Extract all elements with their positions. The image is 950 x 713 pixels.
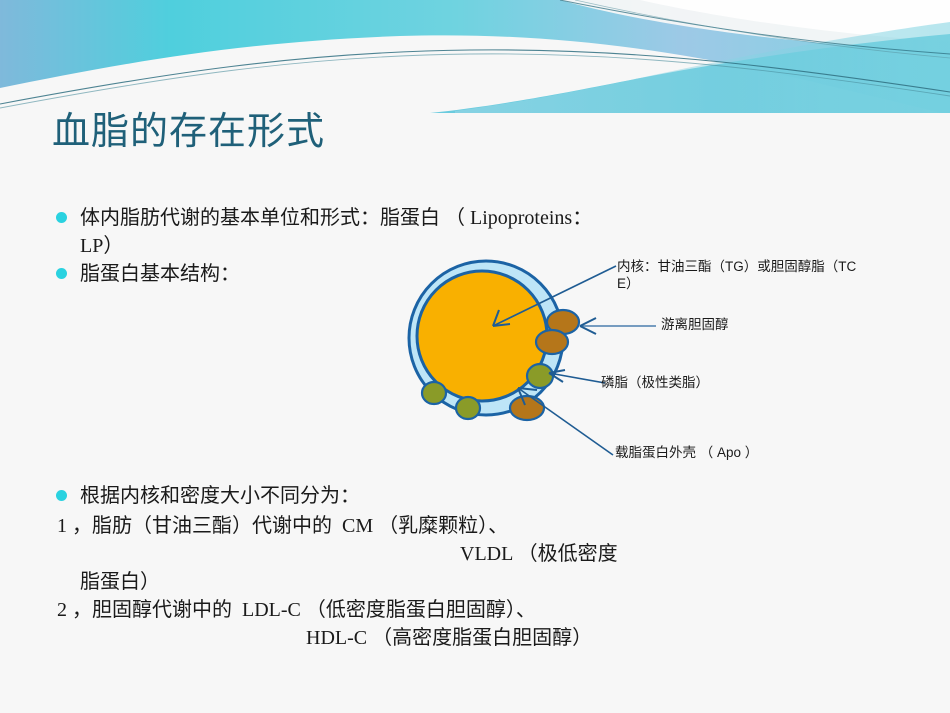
phospholipid-particle <box>456 397 480 419</box>
classification-line-5: HDL-C （高密度脂蛋白胆固醇） <box>306 624 592 652</box>
callout-apolipoprotein-label: 载脂蛋白外壳 （ Apo ） <box>615 444 758 461</box>
connector-apolipoprotein <box>518 388 613 455</box>
bullet-classification-text: 根据内核和密度大小不同分为： <box>80 482 360 510</box>
free-cholesterol-particle <box>536 330 568 354</box>
bullet-dot-icon <box>56 268 67 279</box>
callout-core-label: 内核：甘油三酯（TG）或胆固醇脂（TC E） <box>617 258 947 292</box>
bullet-basic-structure: 脂蛋白基本结构： <box>56 260 416 288</box>
page-title: 血脂的存在形式 <box>52 100 325 155</box>
header-wave-decoration <box>0 0 950 115</box>
phospholipid-particle <box>527 364 553 388</box>
callout-free-cholesterol-label: 游离胆固醇 <box>661 316 729 333</box>
bullet-basic-structure-text: 脂蛋白基本结构： <box>80 260 240 288</box>
slide-canvas: 血脂的存在形式 体内脂肪代谢的基本单位和形式：脂蛋白 （ Lipoprotein… <box>0 0 950 713</box>
free-cholesterol-particle <box>510 396 544 420</box>
callout-core-line-2: E） <box>617 276 640 291</box>
classification-line-1: 1 ，脂肪（甘油三酯）代谢中的 CM （乳糜颗粒）、 <box>57 512 508 540</box>
bullet-line-2: LP） <box>80 235 123 257</box>
bullet-line-1: 体内脂肪代谢的基本单位和形式：脂蛋白 （ Lipoproteins： <box>80 207 592 229</box>
bullet-classification: 根据内核和密度大小不同分为： <box>56 482 576 510</box>
callout-core-line-1: 内核：甘油三酯（TG）或胆固醇脂（TC <box>617 259 856 274</box>
connector-free-cholesterol <box>580 318 656 334</box>
bullet-dot-icon <box>56 490 67 501</box>
connector-phospholipid <box>549 370 605 383</box>
phospholipid-particle <box>422 382 446 404</box>
classification-line-4: 2 ，胆固醇代谢中的 LDL-C （低密度脂蛋白胆固醇）、 <box>57 596 536 624</box>
bullet-dot-icon <box>56 212 67 223</box>
classification-line-3: 脂蛋白） <box>80 568 160 596</box>
classification-line-2: VLDL （极低密度 <box>460 540 618 568</box>
callout-phospholipid-label: 磷脂（极性类脂） <box>601 374 709 391</box>
